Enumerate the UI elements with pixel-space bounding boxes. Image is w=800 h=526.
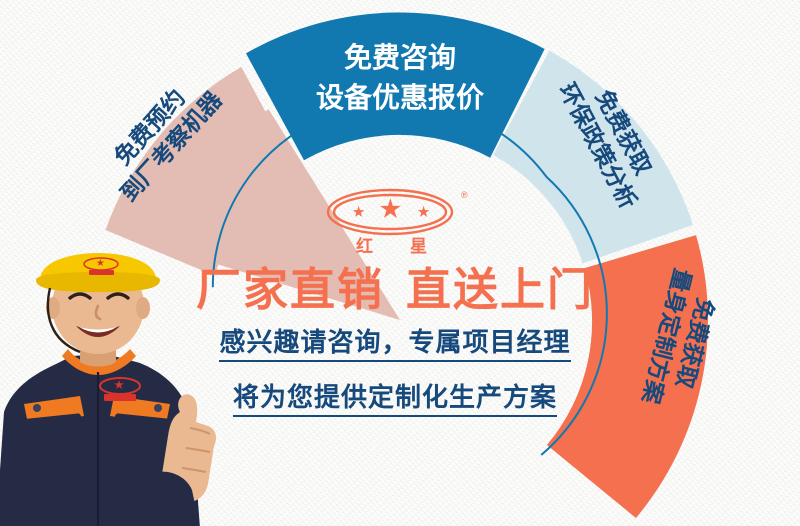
worker-ear-right <box>136 297 150 319</box>
subheadline-line-2: 将为您提供定制化生产方案 <box>160 384 630 417</box>
worker-photo <box>0 236 226 526</box>
page-title: 厂家直销直送上门 <box>160 266 630 313</box>
arc-label-blue-line2: 设备优惠报价 <box>275 78 525 118</box>
worker-button-right <box>154 404 162 412</box>
logo-char-hong: 红 <box>356 236 373 256</box>
logo-container: ® 红 星 <box>160 182 630 260</box>
hongxing-logo-icon: ® 红 星 <box>310 184 480 258</box>
poster-canvas: 免费预约 到厂考察机器 免费咨询 设备优惠报价 免费获取 环保政策分析 免费获取… <box>0 0 800 526</box>
registered-mark: ® <box>461 190 468 200</box>
arc-label-blue-line1: 免费咨询 <box>275 38 525 78</box>
subheadline-line-1: 感兴趣请咨询，专属项目经理 <box>160 329 630 362</box>
subheadline-line-1-text: 感兴趣请咨询，专属项目经理 <box>219 329 570 362</box>
headline-part2: 直送上门 <box>406 264 594 315</box>
logo-char-xing: 星 <box>410 237 427 256</box>
center-content: ® 红 星 厂家直销直送上门 感兴趣请咨询，专属项目经理 将为您提供定制化生产方… <box>160 182 630 417</box>
worker-button-left <box>33 404 41 412</box>
subheadline-line-2-text: 将为您提供定制化生产方案 <box>233 384 557 417</box>
arc-label-blue: 免费咨询 设备优惠报价 <box>275 38 525 118</box>
worker-pocket-left-body <box>23 413 87 481</box>
